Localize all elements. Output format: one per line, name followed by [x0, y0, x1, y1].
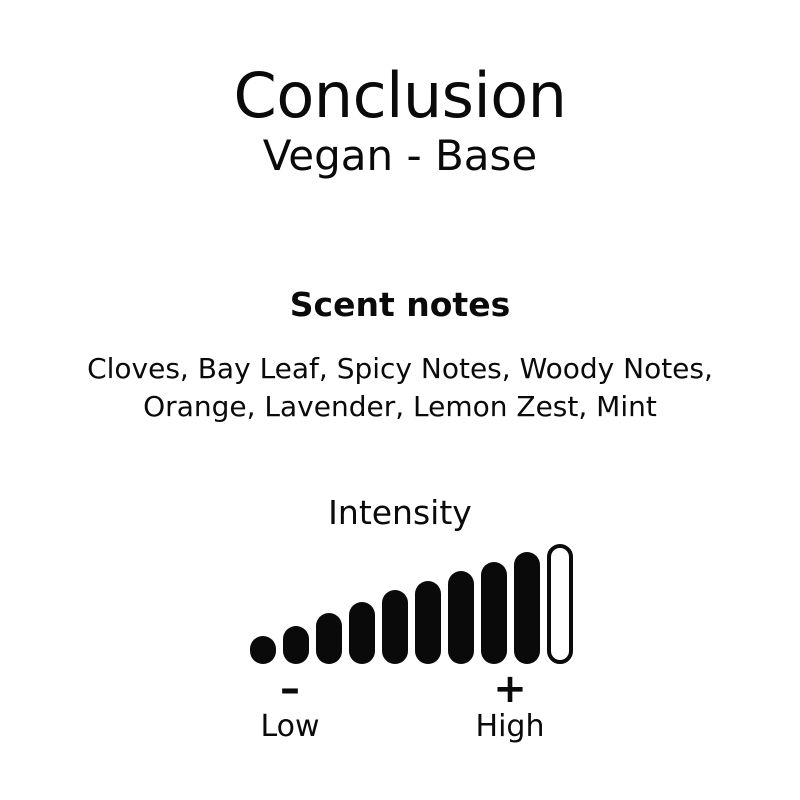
intensity-label: Intensity	[0, 494, 800, 532]
scent-notes-heading: Scent notes	[0, 286, 800, 324]
intensity-bar-filled	[283, 626, 309, 664]
intensity-bar-filled	[514, 552, 540, 664]
intensity-bar-filled	[481, 562, 507, 664]
intensity-bar-filled	[448, 571, 474, 664]
minus-icon: –	[230, 674, 350, 704]
page-title: Conclusion	[0, 62, 800, 130]
intensity-bar-filled	[349, 602, 375, 664]
scale-low: – Low	[230, 674, 350, 744]
plus-icon: +	[450, 674, 570, 704]
intensity-bar-empty	[547, 544, 573, 664]
intensity-bar-filled	[415, 581, 441, 664]
header: Conclusion Vegan - Base	[0, 62, 800, 180]
scale-low-label: Low	[230, 710, 350, 744]
scale-high: + High	[450, 674, 570, 744]
intensity-scale: – Low + High	[230, 674, 570, 746]
page-subtitle: Vegan - Base	[0, 132, 800, 180]
scent-notes-list: Cloves, Bay Leaf, Spicy Notes, Woody Not…	[30, 350, 770, 426]
intensity-bar-filled	[316, 613, 342, 664]
intensity-meter	[250, 536, 550, 664]
scent-notes-section: Scent notes Cloves, Bay Leaf, Spicy Note…	[0, 286, 800, 426]
intensity-section: Intensity – Low + High	[0, 494, 800, 746]
scale-high-label: High	[450, 710, 570, 744]
intensity-bar-filled	[382, 590, 408, 664]
intensity-bar-filled	[250, 636, 276, 664]
slide-canvas: Conclusion Vegan - Base Scent notes Clov…	[0, 0, 800, 800]
